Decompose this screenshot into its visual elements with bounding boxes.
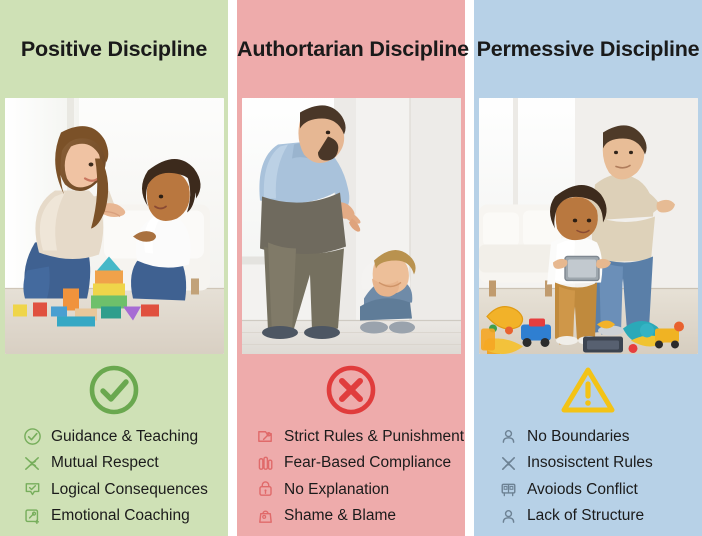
photo-positive-discipline [5, 98, 224, 354]
list-item-label: No Boundaries [527, 429, 630, 445]
checklist-card-icon [22, 480, 42, 500]
bullet-list-permissive: No Boundaries Insosisctent Rules Avoiods… [474, 427, 702, 536]
list-item-label: Logical Consequences [51, 482, 208, 498]
check-circle-icon [22, 427, 42, 447]
list-item: No Boundaries [498, 427, 702, 447]
person-icon [498, 506, 518, 526]
panel-positive-discipline: Positive Discipline [0, 0, 228, 536]
list-item-label: Mutual Respect [51, 455, 159, 471]
photo-scene-mother-child-blocks [5, 98, 224, 354]
shame-bag-icon [255, 506, 275, 526]
panel-title-permissive: Permessive Discipline [474, 18, 702, 80]
status-icon-check-circle [0, 354, 228, 427]
list-item-label: Shame & Blame [284, 508, 396, 524]
list-item: Logical Consequences [22, 480, 228, 500]
crossed-sticks-icon [498, 453, 518, 473]
list-item-label: Insosisctent Rules [527, 455, 653, 471]
list-item: Shame & Blame [255, 506, 465, 526]
list-item-label: Fear-Based Compliance [284, 455, 451, 471]
list-item-label: Guidance & Teaching [51, 429, 198, 445]
list-item: Insosisctent Rules [498, 453, 702, 473]
panel-title-positive: Positive Discipline [0, 18, 228, 80]
photo-scene-father-shrugging-child-tablet [479, 98, 698, 354]
photo-scene-father-scolding-child [242, 98, 461, 354]
status-icon-x-circle [237, 354, 465, 427]
heart-note-icon [22, 506, 42, 526]
list-item: Mutual Respect [22, 453, 228, 473]
gavel-rules-icon [255, 427, 275, 447]
person-icon [498, 427, 518, 447]
status-icon-warning-triangle [474, 354, 702, 427]
bars-fear-icon [255, 453, 275, 473]
handshake-icon [22, 453, 42, 473]
locked-basket-icon [255, 480, 275, 500]
list-item: No Explanation [255, 480, 465, 500]
discipline-comparison-infographic: Positive Discipline [0, 0, 702, 536]
panel-title-authoritarian: Authortarian Discipline [237, 18, 465, 80]
list-item-label: Strict Rules & Punishment [284, 429, 464, 445]
list-item-label: Lack of Structure [527, 508, 644, 524]
panel-permissive-discipline: Permessive Discipline [474, 0, 702, 536]
bullet-list-positive: Guidance & Teaching Mutual Respect Logic… [0, 427, 228, 536]
list-item: Avoiods Conflict [498, 480, 702, 500]
list-item: Fear-Based Compliance [255, 453, 465, 473]
list-item: Guidance & Teaching [22, 427, 228, 447]
fence-icon [498, 480, 518, 500]
list-item-label: No Explanation [284, 482, 389, 498]
photo-authoritarian-discipline [242, 98, 461, 354]
list-item: Lack of Structure [498, 506, 702, 526]
photo-permissive-discipline [479, 98, 698, 354]
list-item: Emotional Coaching [22, 506, 228, 526]
bullet-list-authoritarian: Strict Rules & Punishment Fear-Based Com… [237, 427, 465, 536]
list-item-label: Avoiods Conflict [527, 482, 638, 498]
list-item-label: Emotional Coaching [51, 508, 190, 524]
list-item: Strict Rules & Punishment [255, 427, 465, 447]
panel-authoritarian-discipline: Authortarian Discipline [237, 0, 465, 536]
